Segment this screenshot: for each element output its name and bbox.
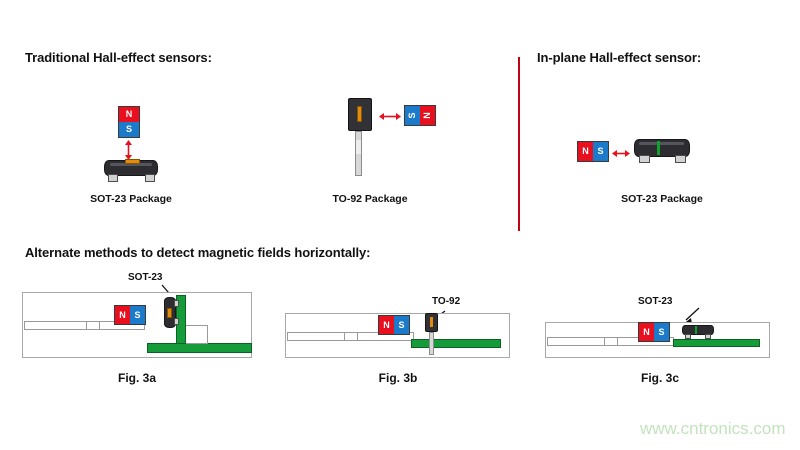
site-watermark: www.cntronics.com: [640, 419, 785, 439]
shaft-tick-left-3c: [604, 337, 605, 346]
heading-inplane: In-plane Hall-effect sensor:: [537, 50, 701, 65]
chip-stripe-orange: [125, 159, 140, 164]
chip-leg-right: [675, 155, 686, 163]
chip-stripe-orange: [167, 308, 172, 318]
pcb-base-3a: [147, 343, 252, 353]
chip-leg-top: [174, 300, 179, 307]
caption-to92-traditional: TO-92 Package: [290, 193, 450, 205]
caption-sot23-inplane: SOT-23 Package: [582, 193, 742, 205]
diagram-canvas: Traditional Hall-effect sensors: In-plan…: [0, 0, 800, 450]
magnet-pole-south: S: [593, 142, 608, 161]
chip-stripe-orange: [430, 317, 433, 327]
shaft-tick-right-3c: [617, 337, 618, 346]
pcb-base-3c: [673, 339, 760, 347]
magnet-pole-south: S: [394, 316, 409, 334]
field-direction-arrow-horizontal-inplane: [612, 146, 630, 157]
shaft-tick-left-3a: [86, 321, 87, 330]
to92-package-3b: [423, 313, 439, 355]
magnet-pole-south: S: [654, 323, 669, 341]
section-divider-line: [518, 57, 520, 231]
magnet-pole-south-label: S: [408, 108, 417, 123]
sot23-package-3c: [682, 325, 714, 340]
field-direction-arrow-horizontal-to92: [379, 109, 401, 120]
magnet-pole-north: N: [119, 107, 139, 122]
support-bracket-3a: [186, 325, 208, 344]
sot23-package-3a: [164, 297, 178, 328]
heading-alternate-methods: Alternate methods to detect magnetic fie…: [25, 245, 370, 260]
to92-lead-highlight: [356, 140, 361, 154]
magnet-3a: N S: [114, 305, 146, 325]
caption-fig-3a: Fig. 3a: [57, 371, 217, 385]
magnet-pole-south: S: [405, 106, 420, 125]
caption-fig-3b: Fig. 3b: [318, 371, 478, 385]
magnet-vertical-sot23: N S: [118, 106, 140, 138]
magnet-pole-south: S: [119, 122, 139, 137]
magnet-3c: N S: [638, 322, 670, 342]
magnet-pole-north: N: [115, 306, 130, 324]
magnet-horizontal-inplane: N S: [577, 141, 609, 162]
chip-leg-right: [705, 334, 711, 339]
chip-stripe-green: [657, 141, 660, 155]
chip-leg-left: [108, 174, 118, 182]
caption-fig-3c: Fig. 3c: [580, 371, 740, 385]
magnet-pole-north: N: [578, 142, 593, 161]
magnet-pole-north-label: N: [423, 108, 432, 123]
magnet-horizontal-to92: S N: [404, 105, 436, 126]
chip-leg-right: [145, 174, 155, 182]
to92-stripe-orange: [357, 106, 362, 122]
chip-leg-bottom: [174, 318, 179, 325]
shaft-tick-right-3b: [357, 332, 358, 341]
magnet-pole-north: N: [379, 316, 394, 334]
magnet-pole-north: N: [420, 106, 435, 125]
shaft-tick-right-3a: [99, 321, 100, 330]
chip-leg-left: [685, 334, 691, 339]
sot23-package-inplane: [634, 139, 690, 163]
field-direction-arrow-vertical: [123, 140, 134, 160]
callout-label-3c: SOT-23: [638, 296, 672, 307]
callout-label-3b: TO-92: [432, 296, 460, 307]
heading-traditional: Traditional Hall-effect sensors:: [25, 50, 212, 65]
chip-body-highlight: [639, 142, 684, 145]
sot23-package-traditional: [104, 160, 158, 182]
magnet-pole-south: S: [130, 306, 145, 324]
shaft-tick-left-3b: [344, 332, 345, 341]
magnet-3b: N S: [378, 315, 410, 335]
callout-label-3a: SOT-23: [128, 272, 162, 283]
magnet-pole-north: N: [639, 323, 654, 341]
caption-sot23-traditional: SOT-23 Package: [61, 193, 201, 205]
chip-leg-left: [639, 155, 650, 163]
to92-lead-3b: [429, 332, 434, 355]
chip-stripe-green: [695, 326, 697, 334]
